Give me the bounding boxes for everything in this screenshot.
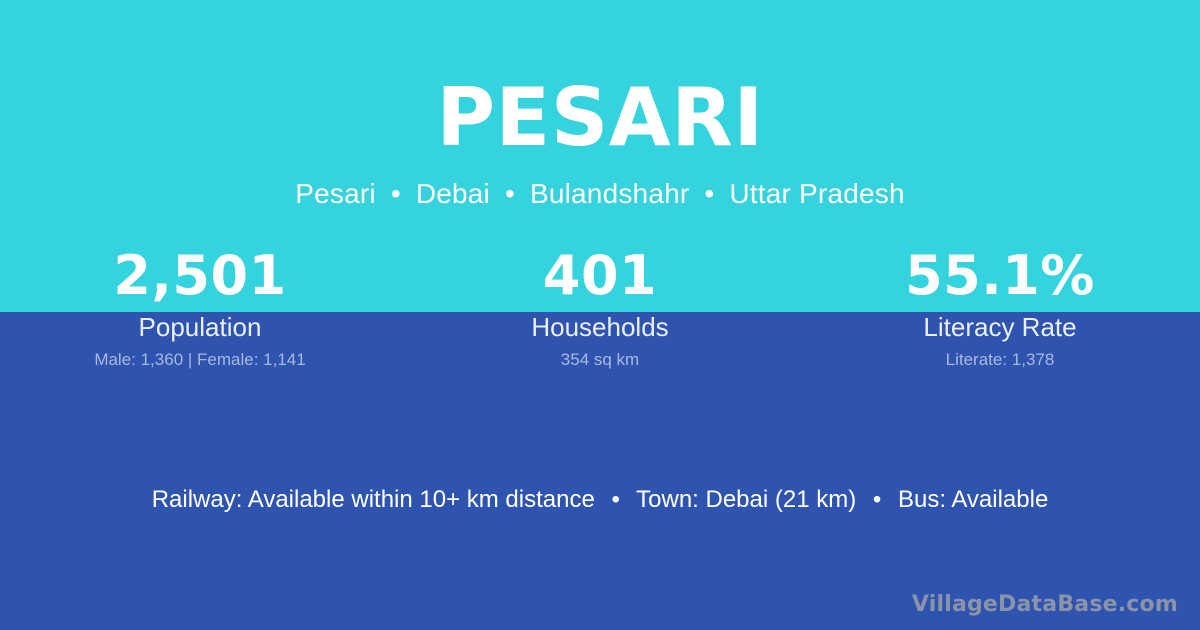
page-title: PESARI bbox=[0, 0, 1200, 158]
stat-sublabel: Literate: 1,378 bbox=[800, 350, 1200, 370]
stat-households: 401 Households 354 sq km bbox=[400, 246, 800, 370]
infrastructure-town: Town: Debai (21 km) bbox=[636, 486, 856, 513]
breadcrumb-village: Pesari bbox=[295, 178, 376, 209]
stat-value: 2,501 bbox=[0, 246, 400, 306]
stat-label: Households bbox=[400, 312, 800, 342]
stat-value: 401 bbox=[400, 246, 800, 306]
village-info-card: PESARI Pesari • Debai • Bulandshahr • Ut… bbox=[0, 0, 1200, 630]
stats-row: 2,501 Population Male: 1,360 | Female: 1… bbox=[0, 246, 1200, 370]
infrastructure-bus: Bus: Available bbox=[898, 486, 1048, 513]
stat-population: 2,501 Population Male: 1,360 | Female: 1… bbox=[0, 246, 400, 370]
site-watermark: VillageDataBase.com bbox=[912, 592, 1178, 618]
infrastructure-line: Railway: Available within 10+ km distanc… bbox=[0, 486, 1200, 514]
breadcrumb-district: Bulandshahr bbox=[530, 178, 689, 209]
breadcrumb-separator-icon: • bbox=[384, 178, 408, 209]
stat-value: 55.1% bbox=[800, 246, 1200, 306]
stat-label: Literacy Rate bbox=[800, 312, 1200, 342]
card-header: PESARI Pesari • Debai • Bulandshahr • Ut… bbox=[0, 0, 1200, 208]
stat-sublabel: Male: 1,360 | Female: 1,141 bbox=[0, 350, 400, 370]
breadcrumb-block: Debai bbox=[416, 178, 490, 209]
breadcrumb-separator-icon: • bbox=[498, 178, 522, 209]
infrastructure-separator-icon: • bbox=[602, 486, 630, 513]
stat-sublabel: 354 sq km bbox=[400, 350, 800, 370]
stat-literacy-rate: 55.1% Literacy Rate Literate: 1,378 bbox=[800, 246, 1200, 370]
breadcrumb-separator-icon: • bbox=[697, 178, 721, 209]
stat-label: Population bbox=[0, 312, 400, 342]
breadcrumb-state: Uttar Pradesh bbox=[729, 178, 904, 209]
breadcrumb: Pesari • Debai • Bulandshahr • Uttar Pra… bbox=[0, 158, 1200, 208]
infrastructure-separator-icon: • bbox=[863, 486, 891, 513]
infrastructure-railway: Railway: Available within 10+ km distanc… bbox=[152, 486, 595, 513]
